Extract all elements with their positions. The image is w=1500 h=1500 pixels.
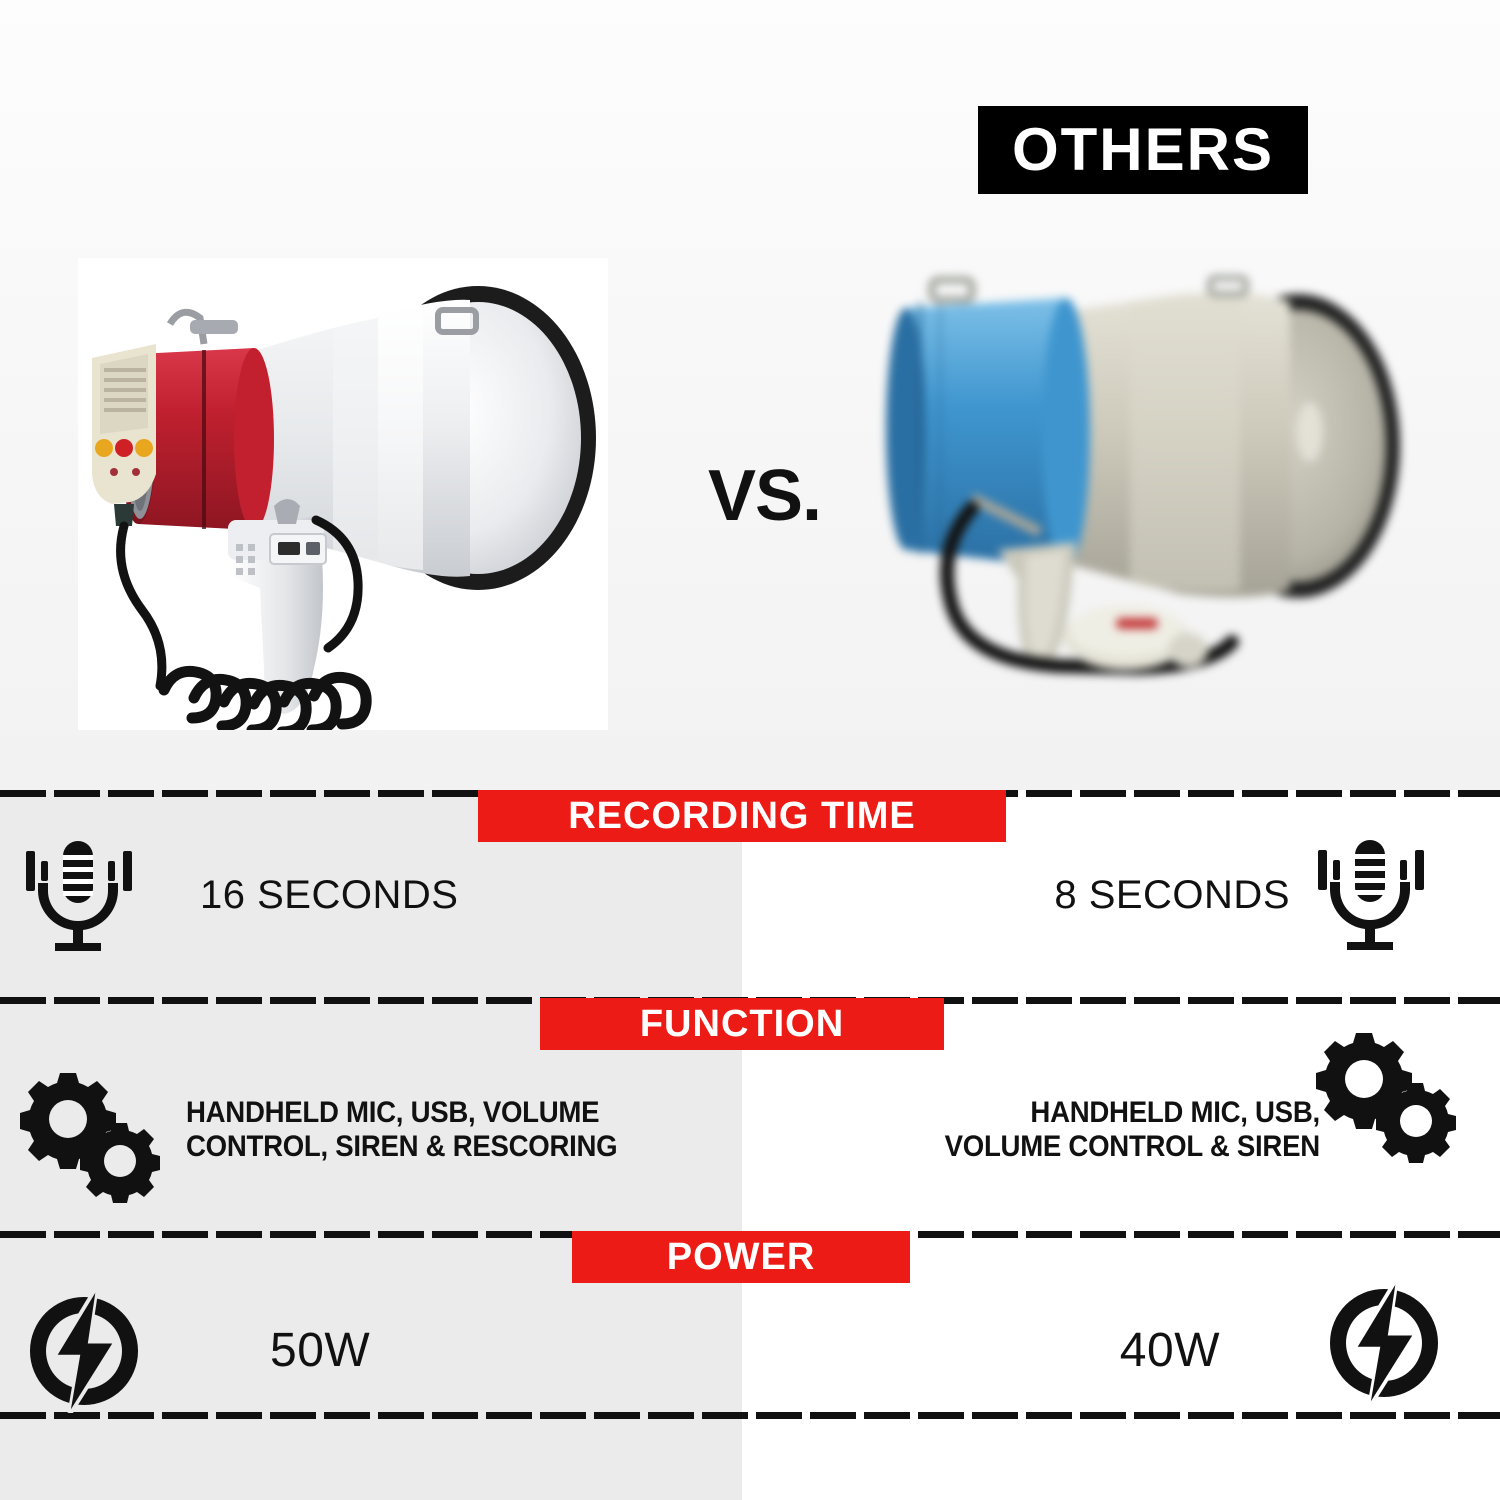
blue-gray-megaphone-illustration xyxy=(880,250,1420,680)
power-bolt-icon xyxy=(1322,1281,1446,1405)
ours-recording-time-value: 16 SECONDS xyxy=(200,873,458,918)
others-function-value: HANDHELD MIC, USB, VOLUME CONTROL & SIRE… xyxy=(945,1096,1320,1163)
right-product-image xyxy=(880,250,1420,680)
others-recording-time-value: 8 SECONDS xyxy=(1054,873,1290,918)
ours-power-value: 50W xyxy=(270,1324,370,1378)
gears-icon xyxy=(1316,1033,1466,1163)
ours-power-cell: 50W xyxy=(270,1289,600,1413)
microphone-icon xyxy=(26,840,164,950)
others-power-cell: 40W xyxy=(900,1289,1220,1413)
table-row-function: FUNCTION HANDHELD MIC, USB, VOLUME CONTR… xyxy=(0,997,1500,1231)
ours-recording-time-cell: 16 SECONDS xyxy=(200,840,620,950)
table-row-recording-time: RECORDING TIME 16 SECONDS xyxy=(0,790,1500,997)
red-white-megaphone-illustration xyxy=(78,258,608,730)
ours-function-cell: HANDHELD MIC, USB, VOLUME CONTROL, SIREN… xyxy=(186,1065,716,1195)
microphone-icon xyxy=(1318,838,1456,950)
row-divider-bottom xyxy=(0,1412,1500,1419)
gears-icon xyxy=(20,1073,170,1203)
comparison-table: RECORDING TIME 16 SECONDS xyxy=(0,790,1500,1500)
row-label-function: FUNCTION xyxy=(540,998,944,1050)
others-badge: OTHERS xyxy=(978,106,1308,194)
power-bolt-icon xyxy=(22,1289,146,1413)
row-label-recording-time: RECORDING TIME xyxy=(478,790,1006,842)
row-label-power: POWER xyxy=(572,1231,910,1283)
others-recording-time-cell: 8 SECONDS xyxy=(860,840,1290,950)
others-function-cell: HANDHELD MIC, USB, VOLUME CONTROL & SIRE… xyxy=(800,1065,1320,1195)
table-row-power: POWER 50W 40W xyxy=(0,1231,1500,1412)
left-product-image xyxy=(78,258,608,730)
hero-section: OTHERS VS. xyxy=(0,0,1500,790)
ours-function-value: HANDHELD MIC, USB, VOLUME CONTROL, SIREN… xyxy=(186,1096,617,1163)
others-power-value: 40W xyxy=(1120,1324,1220,1378)
others-badge-label: OTHERS xyxy=(1012,120,1274,180)
vs-label: VS. xyxy=(708,455,821,537)
